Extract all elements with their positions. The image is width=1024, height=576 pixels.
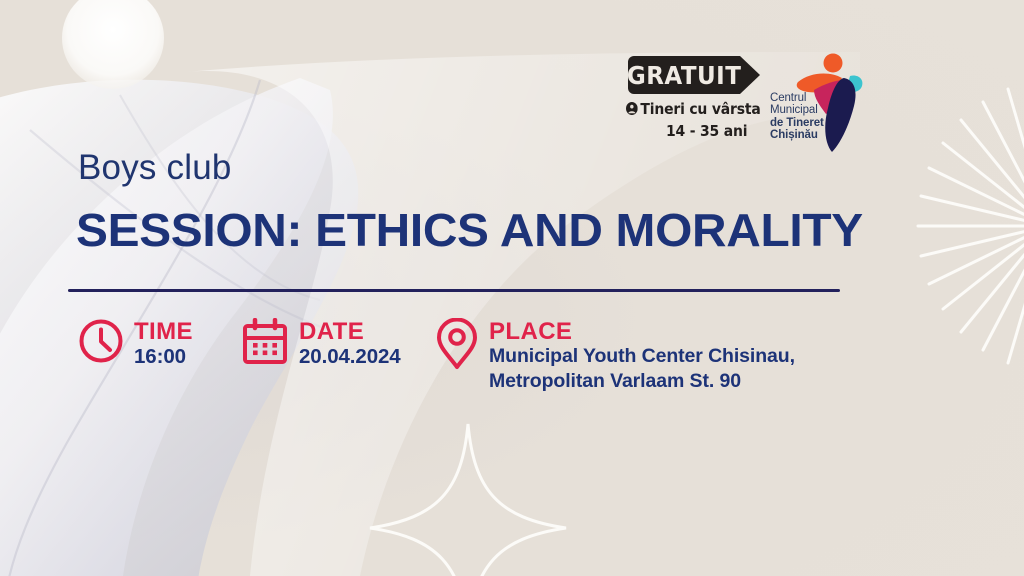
detail-place-label: PLACE — [489, 318, 572, 345]
detail-date: DATE 20.04.2024 — [241, 316, 401, 371]
person-in-circle-icon — [626, 101, 638, 119]
cmt-logo-line-2: Municipal — [770, 104, 846, 116]
location-pin-icon — [435, 318, 479, 375]
free-badge-label: GRATUIT — [628, 56, 731, 94]
page-title: SESSION: ETHICS AND MORALITY — [76, 203, 863, 257]
free-badge: GRATUIT — [628, 56, 760, 94]
clock-icon — [78, 318, 124, 369]
detail-date-label: DATE — [299, 318, 364, 345]
cmt-logo-line-1: Centrul — [770, 92, 846, 104]
divider — [68, 289, 840, 292]
header-badges: GRATUIT Tineri cu vârsta 14 - 35 ani — [620, 48, 910, 168]
cmt-logo-line-3: de Tineret — [770, 117, 846, 129]
age-range-line-1: Tineri cu vârsta — [626, 100, 761, 119]
detail-date-value: 20.04.2024 — [299, 344, 401, 369]
cmt-logo-text: Centrul Municipal de Tineret Chișinău — [770, 92, 846, 142]
detail-time-label: TIME — [134, 318, 193, 345]
detail-time-text: TIME 16:00 — [134, 316, 193, 369]
poster-eyebrow: Boys club — [78, 148, 232, 188]
detail-place-text: PLACE Municipal Youth Center Chisinau, M… — [489, 316, 795, 394]
detail-date-text: DATE 20.04.2024 — [299, 316, 401, 369]
detail-place-value-line-1: Municipal Youth Center Chisinau, — [489, 344, 795, 369]
age-range-text-1: Tineri cu vârsta — [640, 100, 760, 118]
soft-circle-decoration — [62, 0, 164, 89]
cmt-logo: Centrul Municipal de Tineret Chișinău — [770, 52, 890, 162]
detail-time-value: 16:00 — [134, 344, 193, 369]
event-details-row: TIME 16:00 — [78, 316, 958, 416]
calendar-icon — [241, 318, 289, 371]
detail-place-value-line-2: Metropolitan Varlaam St. 90 — [489, 369, 795, 394]
event-poster: GRATUIT Tineri cu vârsta 14 - 35 ani — [0, 0, 1024, 576]
cmt-logo-line-4: Chișinău — [770, 129, 846, 141]
detail-time: TIME 16:00 — [78, 316, 193, 369]
detail-place: PLACE Municipal Youth Center Chisinau, M… — [435, 316, 795, 394]
